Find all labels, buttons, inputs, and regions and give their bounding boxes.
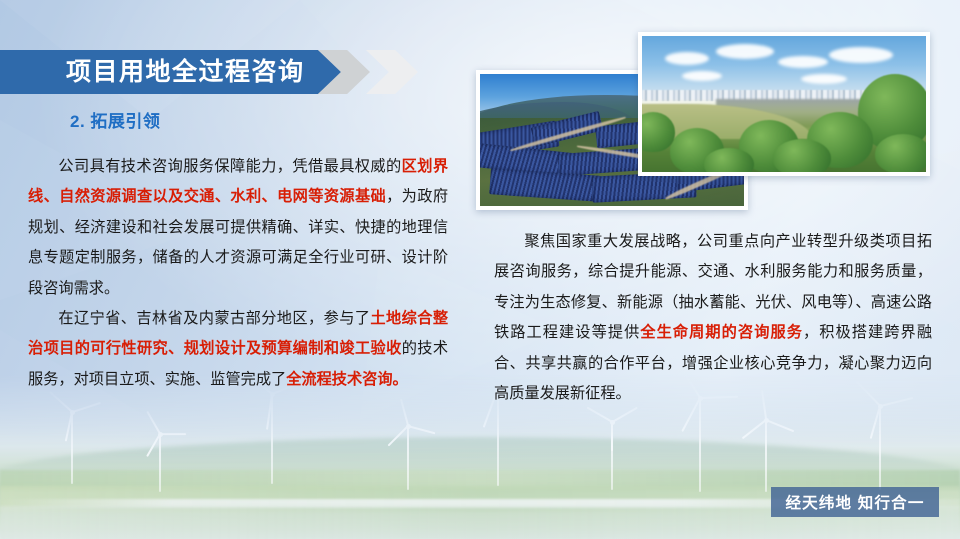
highlight-segment: 全流程技术咨询。: [286, 371, 408, 388]
left-paragraph-2: 在辽宁省、吉林省及内蒙古部分地区，参与了土地综合整治项目的可行性研究、规划设计及…: [28, 304, 448, 395]
text-segment: 在辽宁省、吉林省及内蒙古部分地区，参与了: [58, 310, 370, 327]
left-paragraph-1: 公司具有技术咨询服务保障能力，凭借最具权威的区划界线、自然资源调查以及交通、水利…: [28, 152, 448, 304]
slide-title-bar: 项目用地全过程咨询: [0, 50, 444, 94]
chevron-arrow-gray-icon: [318, 50, 370, 94]
section-heading: 2. 拓展引领: [70, 107, 160, 132]
right-text-column: 聚焦国家重大发展战略，公司重点向产业转型升级类项目拓展咨询服务，综合提升能源、交…: [494, 227, 932, 409]
tree-canopy: [773, 139, 831, 172]
chevron-arrow-light-icon: [366, 50, 418, 94]
footer-slogan-text: 经天纬地 知行合一: [785, 491, 924, 513]
cloud: [829, 47, 893, 63]
slide-canvas: 项目用地全过程咨询 2. 拓展引领 公司具有技术咨询服务保障能力，凭借最具权威的…: [0, 0, 960, 539]
text-segment: 公司具有技术咨询服务保障能力，凭借最具权威的: [58, 158, 401, 175]
right-paragraph-1: 聚焦国家重大发展战略，公司重点向产业转型升级类项目拓展咨询服务，综合提升能源、交…: [494, 227, 932, 409]
footer-slogan-plate: 经天纬地 知行合一: [771, 487, 939, 517]
highlight-segment: 全生命周期的咨询服务: [640, 324, 803, 341]
left-text-column: 公司具有技术咨询服务保障能力，凭借最具权威的区划界线、自然资源调查以及交通、水利…: [28, 152, 448, 395]
tree-canopy: [875, 134, 926, 172]
ecological-restoration-photo: [638, 32, 930, 176]
page-title: 项目用地全过程咨询: [66, 50, 305, 94]
